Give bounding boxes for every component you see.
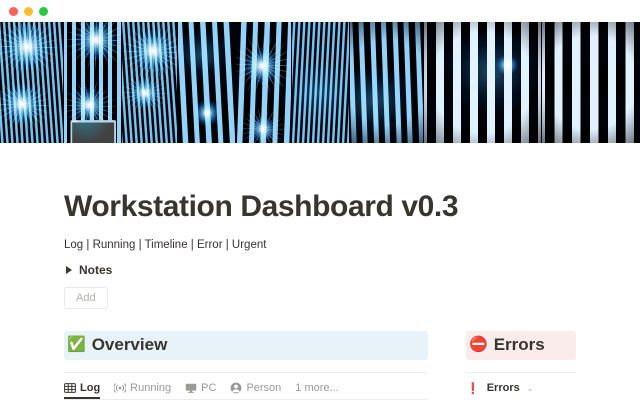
window-close-button[interactable] — [9, 7, 18, 16]
cover-strip — [178, 22, 236, 143]
section-heading-label: Errors — [494, 334, 545, 355]
broadcast-icon — [114, 382, 126, 394]
database-tabs-divider — [64, 399, 428, 400]
page-icon[interactable]: 🖥️ — [64, 122, 123, 143]
tab-pc[interactable]: PC — [185, 382, 216, 399]
no-entry-icon: ⛔ — [469, 337, 488, 352]
cover-strip — [424, 22, 542, 143]
window-titlebar — [0, 0, 640, 22]
column-left: ✅ Overview Log — [64, 331, 428, 400]
tab-label: Person — [246, 382, 281, 394]
window-maximize-button[interactable] — [39, 7, 48, 16]
cover-strip — [236, 22, 292, 143]
toggle-block-notes[interactable]: Notes — [64, 263, 576, 277]
divider — [64, 372, 428, 373]
monitor-icon — [185, 382, 197, 394]
tab-label: PC — [201, 382, 216, 394]
section-heading-overview[interactable]: ✅ Overview — [64, 331, 428, 359]
more-views-link[interactable]: 1 more... — [295, 382, 338, 399]
tab-person[interactable]: Person — [230, 382, 281, 399]
column-right: ⛔ Errors ❗ Errors ⌄ — [466, 331, 576, 400]
check-mark-button-icon: ✅ — [67, 337, 86, 352]
column-list: ✅ Overview Log — [64, 331, 576, 400]
person-circle-icon — [230, 382, 242, 394]
page-subtitle[interactable]: Log | Running | Timeline | Error | Urgen… — [64, 237, 576, 254]
window-minimize-button[interactable] — [24, 7, 33, 16]
exclamation-mark-icon: ❗ — [466, 382, 480, 395]
tab-log[interactable]: Log — [64, 382, 100, 399]
page-body: Workstation Dashboard v0.3 Log | Running… — [0, 189, 640, 400]
linked-database-errors[interactable]: ❗ Errors ⌄ — [466, 382, 576, 400]
page-title[interactable]: Workstation Dashboard v0.3 — [64, 189, 576, 225]
cover-strip — [292, 22, 350, 143]
tab-label: Running — [130, 382, 171, 394]
page-cover-image[interactable]: 🖥️ — [0, 22, 640, 143]
database-view-tabs: Log Running — [64, 382, 428, 399]
add-button[interactable]: Add — [64, 287, 108, 309]
divider — [466, 372, 576, 373]
tab-running[interactable]: Running — [114, 382, 171, 399]
section-heading-errors[interactable]: ⛔ Errors — [466, 331, 576, 359]
cover-strip — [350, 22, 424, 143]
section-heading-label: Overview — [92, 334, 168, 355]
cover-strip — [0, 22, 64, 143]
toggle-label: Notes — [79, 263, 112, 277]
table-icon — [64, 382, 76, 394]
cover-strip — [122, 22, 178, 143]
linked-database-label: Errors — [487, 382, 520, 394]
cover-strip — [542, 22, 640, 143]
chevron-down-icon[interactable]: ⌄ — [527, 384, 534, 393]
tab-label: Log — [80, 382, 100, 394]
chevron-right-icon[interactable] — [66, 266, 72, 274]
